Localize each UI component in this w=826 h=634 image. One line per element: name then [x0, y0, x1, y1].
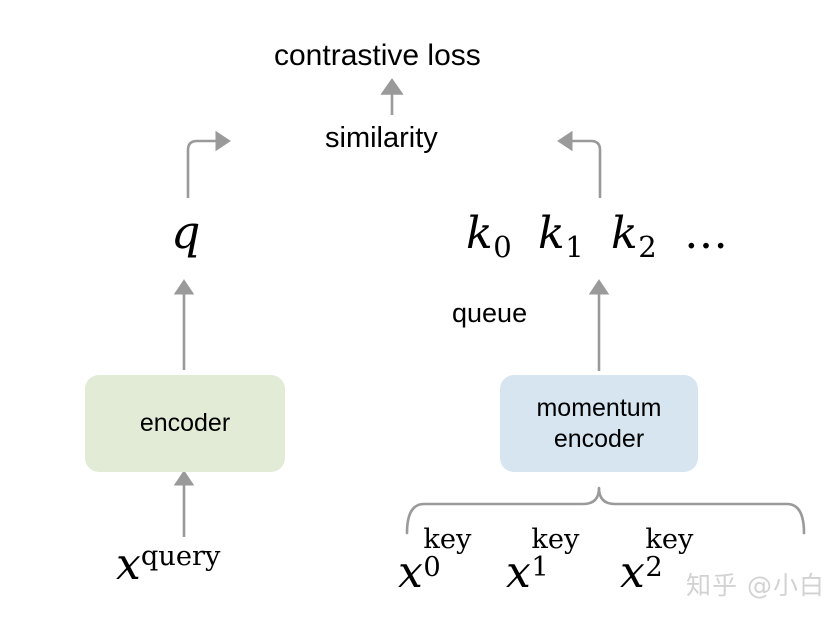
- x-symbol-superscript: query: [141, 541, 221, 572]
- x-symbol-subscript: 1: [531, 554, 548, 581]
- figure-canvas: contrastive loss similarity queue q k0 k…: [0, 0, 826, 634]
- key-embedding-ellipsis: …: [684, 212, 729, 256]
- x-symbol-scripts: key2: [645, 543, 687, 587]
- x-symbol-subscript: 0: [423, 554, 440, 581]
- x-symbol-base: x: [398, 547, 423, 598]
- x-symbol-base: x: [620, 547, 645, 598]
- key-symbol-base: k: [466, 208, 493, 259]
- key-symbol-base: k: [538, 208, 565, 259]
- key-embedding-symbol-0: k0: [466, 212, 512, 262]
- x-symbol-base: x: [116, 539, 141, 590]
- x-symbol-superscript: key: [645, 526, 693, 553]
- x-symbol-superscript: key: [531, 526, 579, 553]
- momentum-encoder-box[interactable]: momentum encoder: [500, 375, 698, 472]
- key-embedding-symbol-2: k2: [611, 212, 657, 262]
- contrastive-loss-label: contrastive loss: [274, 41, 481, 71]
- key-symbol-subscript: 0: [493, 230, 511, 264]
- key-input-symbol-0: xkey0: [398, 543, 465, 595]
- query-input-symbol: xquery: [116, 543, 220, 587]
- key-input-symbol-2: xkey2: [620, 543, 687, 595]
- x-symbol-superscript: key: [423, 526, 471, 553]
- x-symbol-base: x: [506, 547, 531, 598]
- similarity-label: similarity: [325, 124, 438, 153]
- x-symbol-subscript: 2: [645, 554, 662, 581]
- momentum-encoder-label-line2: encoder: [554, 425, 644, 453]
- query-embedding-symbol: q: [171, 209, 200, 255]
- momentum-encoder-label-line1: momentum: [536, 394, 661, 422]
- encoder-box-label: encoder: [140, 408, 230, 439]
- momentum-encoder-box-label: momentum encoder: [536, 393, 661, 454]
- key-embedding-symbol-1: k1: [538, 212, 584, 262]
- key-symbol-subscript: 2: [638, 230, 656, 264]
- watermark: 知乎 @小白: [686, 566, 825, 602]
- key-symbol-subscript: 1: [565, 230, 583, 264]
- x-symbol-scripts: key1: [531, 543, 573, 587]
- key-input-symbol-1: xkey1: [506, 543, 573, 595]
- arrow-keys-to-similarity: [567, 141, 600, 198]
- x-symbol-scripts: key0: [423, 543, 465, 587]
- encoder-box[interactable]: encoder: [85, 375, 285, 472]
- key-symbol-base: k: [611, 208, 638, 259]
- arrow-q-to-similarity: [188, 141, 221, 198]
- queue-label: queue: [452, 300, 527, 327]
